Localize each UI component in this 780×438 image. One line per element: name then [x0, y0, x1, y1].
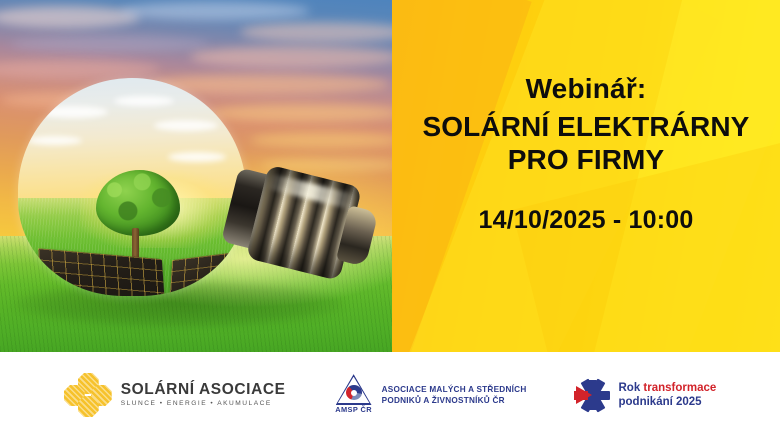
yellow-text-panel: Webinář: SOLÁRNÍ ELEKTRÁRNY PRO FIRMY 14…	[392, 0, 780, 352]
headline-line-1: Webinář:	[526, 74, 647, 104]
logo-solarni-asociace[interactable]: SOLÁRNÍ ASOCIACE SLUNCE • ENERGIE • AKUM…	[64, 373, 286, 417]
amsp-swirl-icon	[346, 385, 362, 400]
webinar-banner: Webinář: SOLÁRNÍ ELEKTRÁRNY PRO FIRMY 14…	[0, 0, 780, 438]
logo-amsp-caption: AMSP ČR	[334, 405, 374, 414]
headline-line-2: SOLÁRNÍ ELEKTRÁRNY	[423, 110, 750, 143]
amsp-triangle-icon: AMSP ČR	[334, 374, 374, 416]
light-bulb-glass	[18, 78, 246, 296]
logo-rt-line1-b: transformace	[643, 382, 716, 394]
headline-line-3: PRO FIRMY	[508, 143, 664, 176]
logo-solarni-asociace-tagline: SLUNCE • ENERGIE • AKUMULACE	[121, 401, 286, 408]
solar-flower-icon	[64, 373, 112, 417]
hero-photo	[0, 0, 392, 352]
event-datetime: 14/10/2025 - 10:00	[479, 206, 694, 235]
partner-logo-bar: SOLÁRNÍ ASOCIACE SLUNCE • ENERGIE • AKUM…	[0, 352, 780, 438]
logo-amsp-line-1: ASOCIACE MALÝCH A STŘEDNÍCH	[382, 384, 527, 395]
logo-rt-line2: podnikání 2025	[619, 395, 717, 409]
logo-amsp-line-2: PODNIKŮ A ŽIVNOSTNÍKŮ ČR	[382, 395, 527, 406]
logo-rt-line1-a: Rok	[619, 382, 644, 394]
logo-amsp-cr[interactable]: AMSP ČR ASOCIACE MALÝCH A STŘEDNÍCH PODN…	[334, 374, 527, 416]
logo-solarni-asociace-name: SOLÁRNÍ ASOCIACE	[121, 382, 286, 398]
asterisk-arrow-icon	[575, 378, 611, 412]
headline-block: Webinář: SOLÁRNÍ ELEKTRÁRNY PRO FIRMY 14…	[392, 0, 780, 352]
tree-crown-icon	[96, 170, 180, 236]
logo-rok-transformace[interactable]: Rok transformace podnikání 2025	[575, 378, 717, 412]
